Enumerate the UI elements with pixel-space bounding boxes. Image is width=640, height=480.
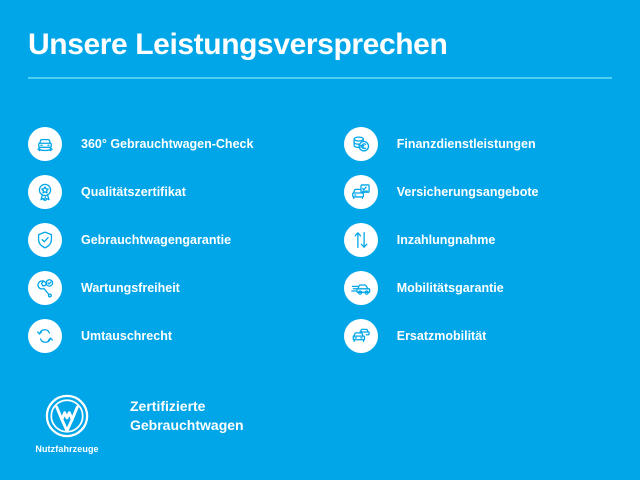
coins-euro-icon [344,127,378,161]
promise-item[interactable]: Gebrauchtwagengarantie [28,216,344,264]
promise-item[interactable]: Wartungsfreiheit [28,264,344,312]
promises-column-left: 360° Gebrauchtwagen-Check Qualitätszerti… [28,120,344,360]
promise-label: Versicherungsangebote [397,185,539,200]
promises-column-right: Finanzdienstleistungen Versicheru [344,120,620,360]
footer-text-line-2: Gebrauchtwagen [130,416,244,435]
promise-label: Ersatzmobilität [397,329,487,344]
promise-label: Qualitätszertifikat [81,185,186,200]
up-down-arrows-icon [344,223,378,257]
promise-label: 360° Gebrauchtwagen-Check [81,137,253,152]
promise-item[interactable]: Finanzdienstleistungen [344,120,620,168]
slide-root: Unsere Leistungsversprechen [0,0,640,480]
promise-label: Gebrauchtwagengarantie [81,233,231,248]
promise-label: Mobilitätsgarantie [397,281,504,296]
header-divider [28,77,612,79]
two-cars-icon [344,319,378,353]
promise-item[interactable]: Inzahlungnahme [344,216,620,264]
car-checklist-icon [344,175,378,209]
shield-check-icon [28,223,62,257]
promise-item[interactable]: Umtauschrecht [28,312,344,360]
promise-label: Umtauschrecht [81,329,172,344]
promise-item[interactable]: Qualitätszertifikat [28,168,344,216]
footer-text-line-1: Zertifizierte [130,397,244,416]
promise-label: Inzahlungnahme [397,233,496,248]
header: Unsere Leistungsversprechen [28,28,612,79]
footer: Nutzfahrzeuge Zertifizierte Gebrauchtwag… [30,393,244,454]
vw-logo-icon [44,393,90,439]
promise-item[interactable]: Versicherungsangebote [344,168,620,216]
promise-item[interactable]: Ersatzmobilität [344,312,620,360]
promise-label: Wartungsfreiheit [81,281,180,296]
brand-logo-block: Nutzfahrzeuge [30,393,104,454]
car-motion-icon [344,271,378,305]
promise-item[interactable]: Mobilitätsgarantie [344,264,620,312]
quality-seal-icon [28,175,62,209]
car-360-check-icon [28,127,62,161]
exchange-arrows-icon [28,319,62,353]
promises-grid: 360° Gebrauchtwagen-Check Qualitätszerti… [28,120,620,360]
page-title: Unsere Leistungsversprechen [28,28,612,61]
wrench-check-icon [28,271,62,305]
logo-subtitle: Nutzfahrzeuge [35,444,98,454]
footer-text: Zertifizierte Gebrauchtwagen [130,397,244,435]
promise-label: Finanzdienstleistungen [397,137,536,152]
promise-item[interactable]: 360° Gebrauchtwagen-Check [28,120,344,168]
